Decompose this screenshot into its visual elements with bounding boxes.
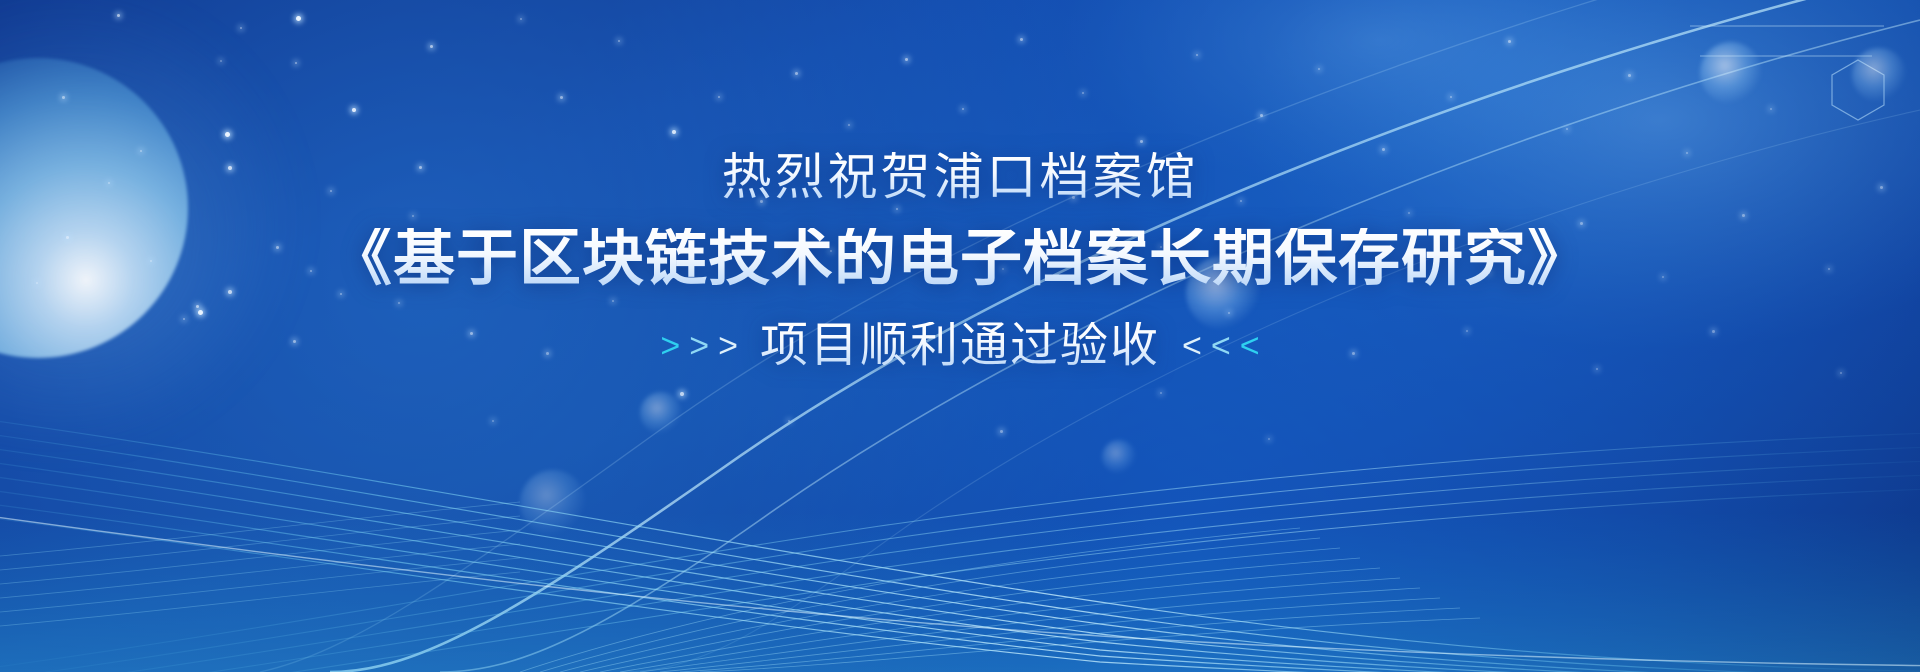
project-title: 《基于区块链技术的电子档案长期保存研究》: [330, 228, 1590, 290]
chevron-left-icon-3: <: [1240, 329, 1260, 363]
chevron-right-icon-3: >: [718, 329, 738, 363]
chevron-left-icon-2: <: [1211, 329, 1231, 363]
chevron-left-icon-1: <: [1182, 329, 1202, 363]
chevron-left-group-icon: < < <: [1182, 329, 1260, 363]
banner-content: 热烈祝贺浦口档案馆 《基于区块链技术的电子档案长期保存研究》 > > > 项目顺…: [0, 0, 1920, 672]
chevron-right-icon-1: >: [660, 329, 680, 363]
celebration-banner: 热烈祝贺浦口档案馆 《基于区块链技术的电子档案长期保存研究》 > > > 项目顺…: [0, 0, 1920, 672]
subline: 项目顺利通过验收: [760, 322, 1160, 370]
headline: 热烈祝贺浦口档案馆: [722, 152, 1199, 202]
subline-row: > > > 项目顺利通过验收 < < <: [660, 322, 1259, 370]
chevron-right-group-icon: > > >: [660, 329, 738, 363]
chevron-right-icon-2: >: [689, 329, 709, 363]
